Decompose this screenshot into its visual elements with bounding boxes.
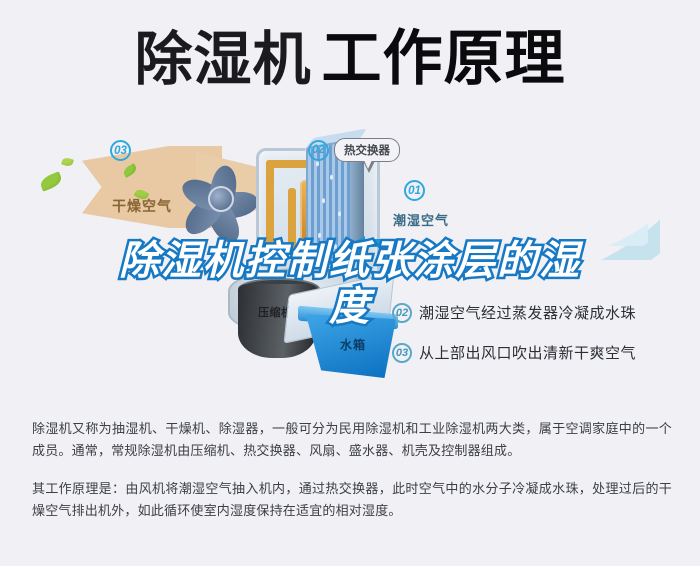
heat-exchanger-callout: 02 热交换器 bbox=[308, 138, 400, 162]
paragraph-1: 除湿机又称为抽湿机、干燥机、除湿器，一般可分为民用除湿机和工业除湿机两大类，属于… bbox=[32, 418, 672, 462]
legend-badge-02: 02 bbox=[392, 303, 412, 323]
legend-text-03: 从上部出风口吹出清新干爽空气 bbox=[419, 342, 636, 363]
infographic-page: 除湿机工作原理 干燥空气 03 bbox=[0, 0, 700, 566]
list-item: 03 从上部出风口吹出清新干爽空气 bbox=[392, 342, 636, 363]
leaf-icon bbox=[61, 156, 74, 167]
refrigerant-pipe bbox=[288, 188, 296, 252]
page-title-part2: 工作原理 bbox=[322, 24, 566, 94]
description-text-block: 除湿机又称为抽湿机、干燥机、除湿器，一般可分为民用除湿机和工业除湿机两大类，属于… bbox=[32, 418, 672, 522]
list-item: 02 潮湿空气经过蒸发器冷凝成水珠 bbox=[392, 302, 636, 323]
page-title-part1: 除湿机 bbox=[134, 25, 311, 93]
leaf-icon bbox=[38, 171, 63, 191]
refrigerant-pipe bbox=[266, 160, 274, 268]
paragraph-2: 其工作原理是：由风机将潮湿空气抽入机内，通过热交换器，此时空气中的水分子冷凝成水… bbox=[32, 478, 672, 522]
heat-exchanger-callout-label: 热交换器 bbox=[334, 138, 400, 162]
fan-hub bbox=[208, 186, 234, 212]
airflow-arrow-icon bbox=[352, 236, 400, 249]
step-badge-02-diagram: 02 bbox=[308, 140, 329, 161]
water-tank-label: 水箱 bbox=[340, 336, 366, 353]
page-title: 除湿机工作原理 bbox=[0, 28, 700, 90]
steps-legend: 02 潮湿空气经过蒸发器冷凝成水珠 03 从上部出风口吹出清新干爽空气 bbox=[392, 302, 636, 382]
step-badge-03-diagram: 03 bbox=[110, 140, 131, 161]
humid-air-label: 潮湿空气 bbox=[393, 210, 449, 229]
legend-badge-03: 03 bbox=[392, 343, 412, 363]
step-badge-01-diagram: 01 bbox=[404, 180, 425, 201]
legend-text-02: 潮湿空气经过蒸发器冷凝成水珠 bbox=[419, 302, 636, 323]
